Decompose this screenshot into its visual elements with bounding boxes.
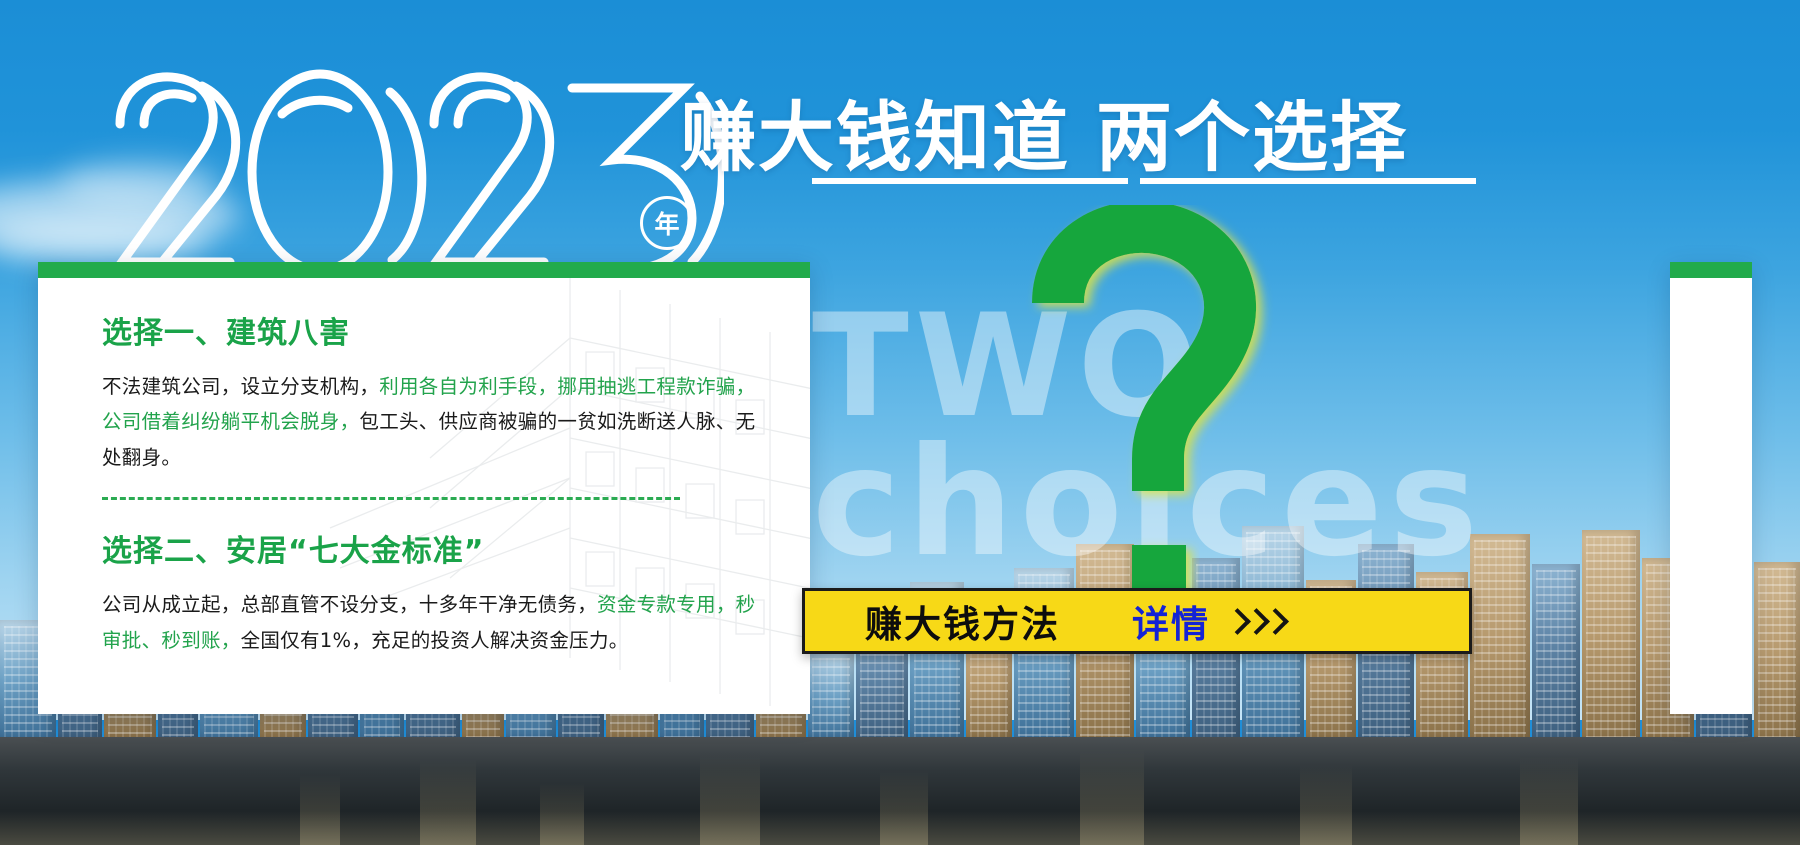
cta-detail-link[interactable]: 详情 (1132, 594, 1210, 648)
section-divider (102, 497, 680, 500)
year-unit-badge: 年 (640, 196, 694, 250)
content-card-right (1670, 262, 1752, 714)
run-plain: 全国仅有1%，充足的投资人解决资金压力。 (241, 629, 629, 652)
headline-rule-left (812, 178, 1128, 184)
cta-banner[interactable]: 赚大钱方法 详情 (802, 588, 1472, 654)
headline-right: 两个选择 (1096, 93, 1408, 182)
cloud-shape (60, 160, 220, 204)
poster-canvas: TWO choices 年 赚大 (0, 0, 1800, 845)
card-accent-bar (1670, 262, 1752, 278)
content-card-left: 选择一、建筑八害 不法建筑公司，设立分支机构，利用各自为利手段，挪用抽逃工程款诈… (38, 262, 810, 714)
section-two-title: 选择二、安居“七大金标准” (102, 526, 782, 570)
water-reflection-strip (0, 737, 1800, 845)
run-plain: 不法建筑公司，设立分支机构， (102, 375, 379, 398)
card-accent-bar (38, 262, 810, 278)
section-two: 选择二、安居“七大金标准” 公司从成立起，总部直管不设分支，十多年干净无债务，资… (102, 526, 782, 658)
section-one: 选择一、建筑八害 不法建筑公司，设立分支机构，利用各自为利手段，挪用抽逃工程款诈… (102, 308, 782, 475)
page-title: 赚大钱知道两个选择 (680, 76, 1408, 186)
card-content: 选择一、建筑八害 不法建筑公司，设立分支机构，利用各自为利手段，挪用抽逃工程款诈… (102, 308, 782, 658)
run-plain: 公司从成立起，总部直管不设分支，十多年干净无债务， (102, 593, 597, 616)
cloud-shape (0, 215, 210, 265)
cta-main-label: 赚大钱方法 (865, 594, 1060, 648)
headline-left: 赚大钱知道 (680, 93, 1070, 182)
section-one-title: 选择一、建筑八害 (102, 308, 782, 352)
section-two-paragraph: 公司从成立起，总部直管不设分支，十多年干净无债务，资金专款专用，秒审批、秒到账，… (102, 587, 774, 658)
section-one-paragraph: 不法建筑公司，设立分支机构，利用各自为利手段，挪用抽逃工程款诈骗，公司借着纠纷躺… (102, 369, 774, 475)
headline-rule-right (1140, 178, 1476, 184)
chevron-right-icon (1228, 604, 1283, 638)
